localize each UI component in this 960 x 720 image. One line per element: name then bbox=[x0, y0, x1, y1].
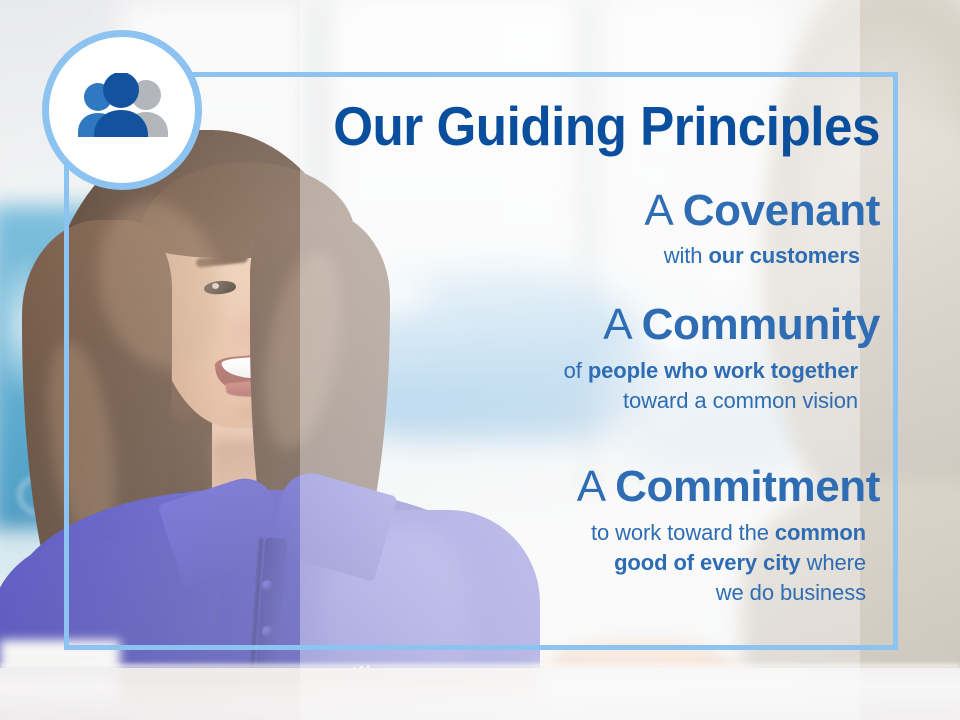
principle-sub2-plain: of bbox=[564, 358, 588, 383]
principle-subtext-3: to work toward the common good of every … bbox=[0, 518, 880, 608]
principle-headline-2: A Community bbox=[0, 300, 880, 350]
page-title: Our Guiding Principles bbox=[62, 97, 880, 155]
principle-headline-3: A Commitment bbox=[0, 462, 880, 512]
principle-sub3-line3: we do business bbox=[0, 578, 866, 608]
principle-article-3: A bbox=[577, 462, 604, 511]
principle-sub3-line2: good of every city where bbox=[0, 548, 866, 578]
principle-headline-1: A Covenant bbox=[0, 186, 880, 236]
principle-noun-covenant: Covenant bbox=[683, 186, 880, 235]
principle-sub1-bold: our customers bbox=[708, 243, 860, 268]
principle-article-1: A bbox=[644, 186, 671, 235]
principle-subtext-1: with our customers bbox=[0, 241, 880, 271]
principle-sub2-bold: people who work together bbox=[588, 358, 858, 383]
principle-subtext-2: of people who work together toward a com… bbox=[0, 356, 880, 416]
principle-block-commitment: A Commitment to work toward the common g… bbox=[0, 462, 880, 608]
principle-noun-community: Community bbox=[642, 300, 880, 349]
principle-sub3-line1: to work toward the common bbox=[0, 518, 866, 548]
principle-article-2: A bbox=[603, 300, 630, 349]
principle-sub1-plain: with bbox=[664, 243, 709, 268]
principle-sub3-bold-b: good of every city bbox=[614, 550, 800, 575]
principle-sub2-line2: toward a common vision bbox=[0, 386, 858, 416]
principle-block-community: A Community of people who work together … bbox=[0, 300, 880, 416]
principle-sub2-line1: of people who work together bbox=[0, 356, 858, 386]
principle-sub3-plain-a: to work toward the bbox=[591, 520, 775, 545]
principle-noun-commitment: Commitment bbox=[615, 462, 880, 511]
guiding-principles-graphic: FLOW FLOW AUTOMOTIVE bbox=[0, 0, 960, 720]
principle-sub3-bold-a: common bbox=[775, 520, 866, 545]
text-layer: Our Guiding Principles A Covenant with o… bbox=[0, 0, 960, 720]
principle-block-covenant: A Covenant with our customers bbox=[0, 186, 880, 271]
principle-sub3-plain-b: where bbox=[801, 550, 866, 575]
